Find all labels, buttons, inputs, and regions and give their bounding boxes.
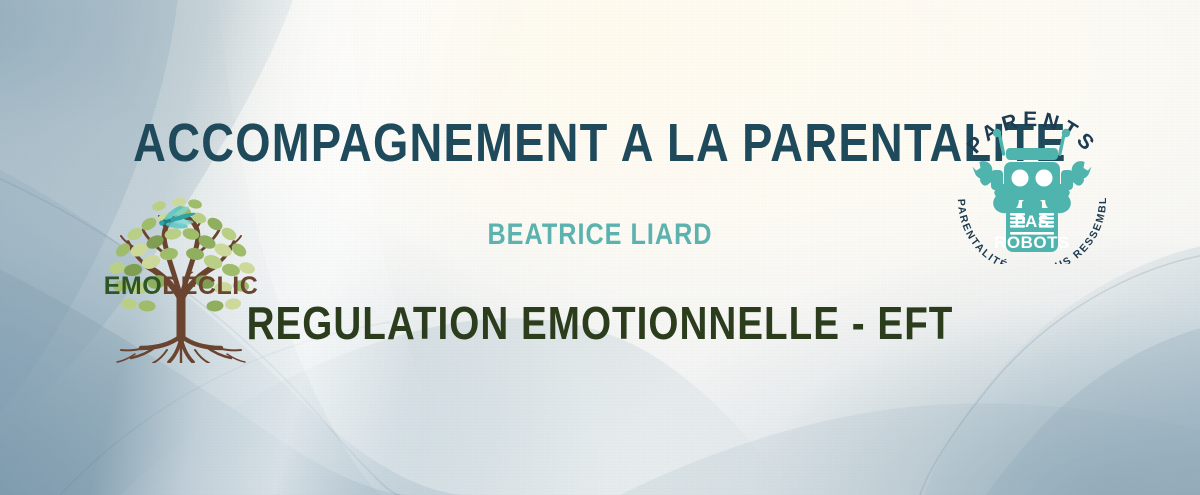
emodeclic-logo: EMODÉCLIC bbox=[95, 188, 267, 363]
wordmark-part2: DÉCLIC bbox=[162, 271, 258, 300]
robot-body-line2: ROBOTS bbox=[994, 233, 1070, 252]
parents-pas-robots-logo: PARENTS bbox=[948, 96, 1116, 264]
banner-root: ACCOMPAGNEMENT A LA PARENTALITE BEATRICE… bbox=[0, 0, 1200, 495]
wordmark-part1: EMO bbox=[104, 272, 162, 300]
robot-body-panel: PAS ROBOTS bbox=[994, 212, 1070, 252]
emodeclic-wordmark: EMODÉCLIC bbox=[104, 271, 259, 300]
parents-pas-robots-icon: PARENTS bbox=[948, 96, 1116, 264]
robot-body-line1: PAS bbox=[1014, 212, 1049, 231]
svg-text:EMODÉCLIC: EMODÉCLIC bbox=[104, 271, 259, 300]
emodeclic-tree-icon: EMODÉCLIC bbox=[95, 188, 267, 363]
